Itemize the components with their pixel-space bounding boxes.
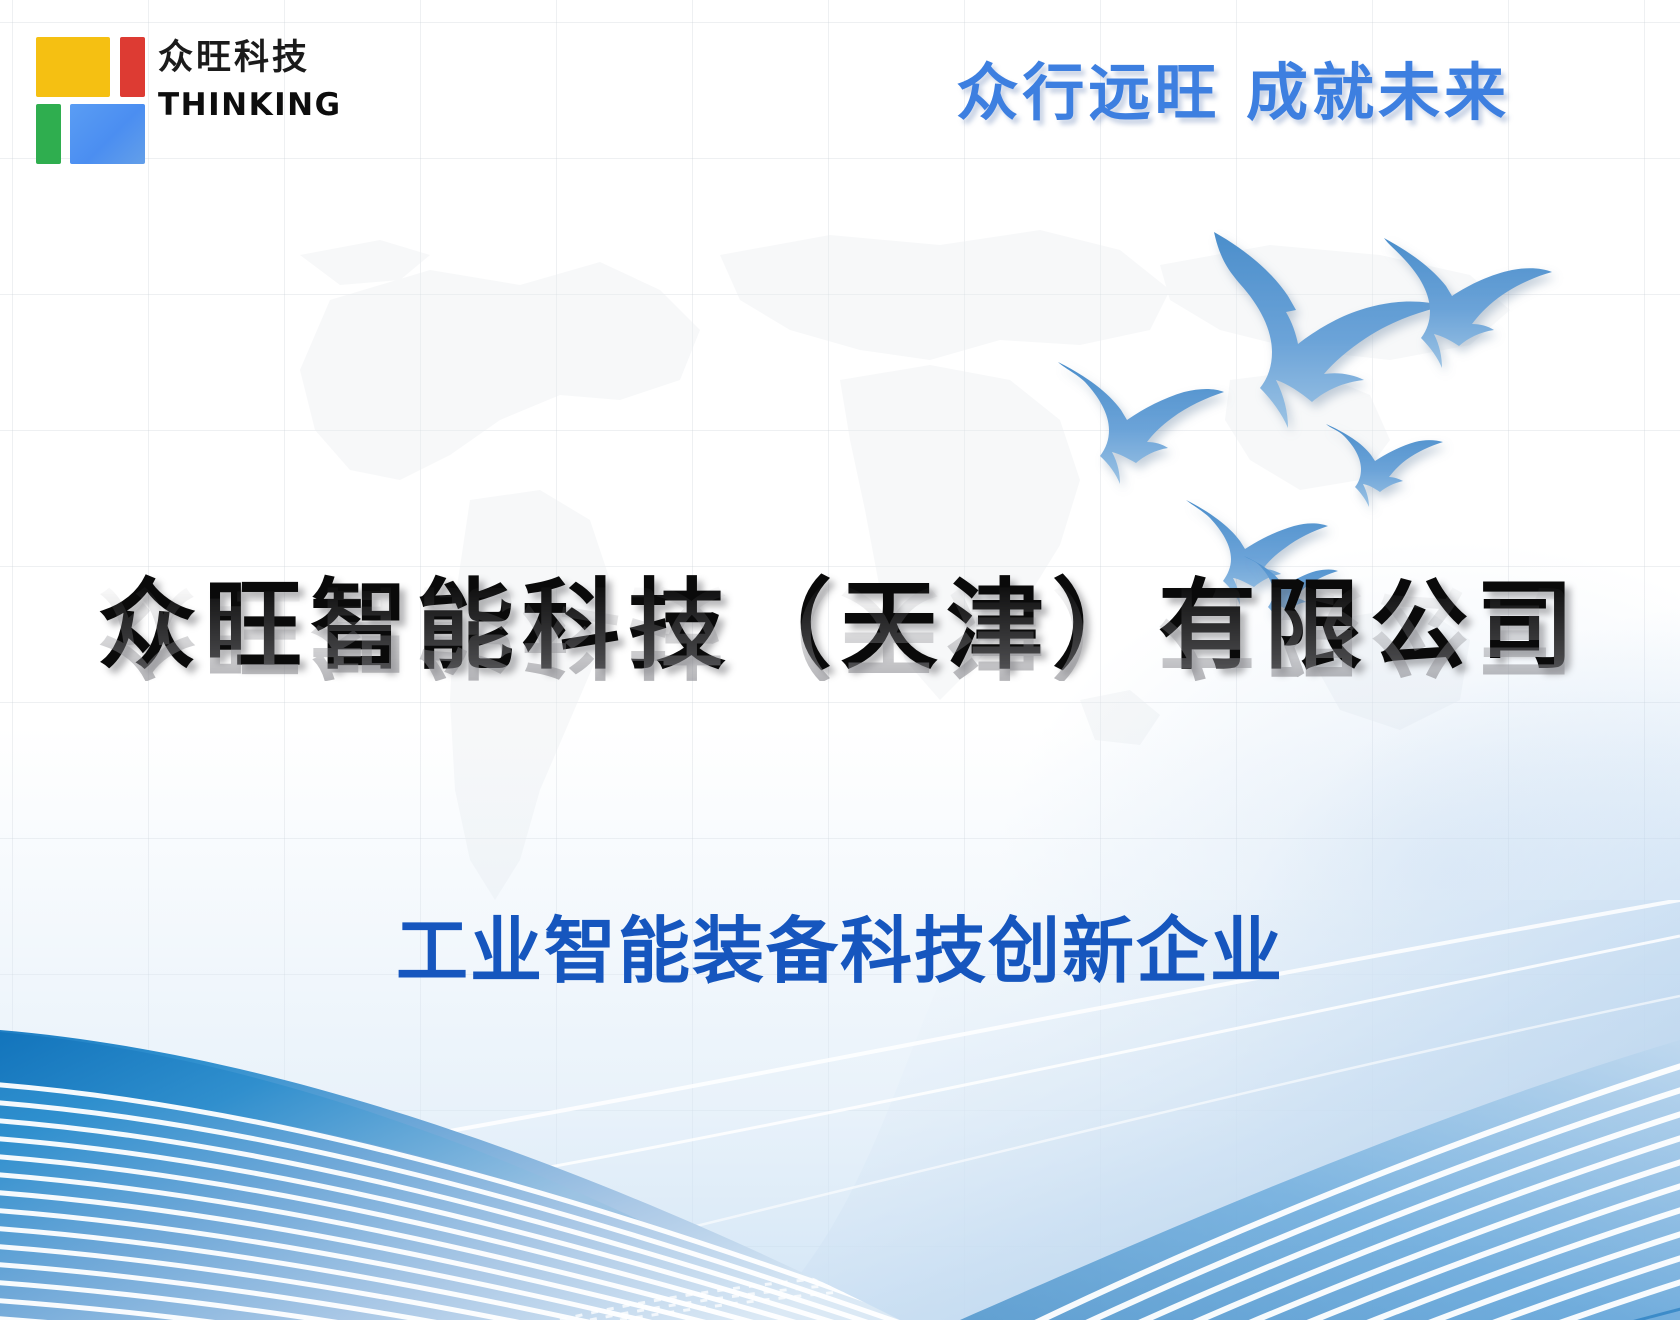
logo-square-red-icon: [120, 37, 145, 97]
seagull-icon: [1326, 424, 1443, 507]
seagull-icon: [1214, 232, 1444, 428]
logo-square-green-icon: [36, 104, 61, 164]
company-logo: 众旺科技 THINKING: [28, 33, 286, 155]
seagull-icon: [1384, 238, 1552, 368]
page-title-reflection: 众旺智能科技（天津）有限公司: [0, 577, 1680, 681]
page-subtitle: 工业智能装备科技创新企业: [396, 912, 1284, 991]
header-tagline: 众行远旺 成就未来: [956, 62, 1510, 124]
seagull-icon: [1058, 362, 1224, 484]
title-block: 众旺智能科技（天津）有限公司 众旺智能科技（天津）有限公司: [0, 575, 1680, 785]
logo-square-blue-icon: [70, 104, 145, 164]
presentation-slide: 众旺科技 THINKING 众行远旺 成就未来: [0, 0, 1680, 1320]
logo-square-yellow-icon: [36, 37, 110, 97]
logo-wordmark: 众旺科技 THINKING: [158, 41, 342, 121]
logo-mark-icon: [28, 33, 146, 155]
subtitle-block: 工业智能装备科技创新企业: [0, 912, 1680, 991]
logo-name-cn: 众旺科技: [158, 41, 342, 76]
logo-name-en: THINKING: [158, 90, 342, 121]
slide-header: 众旺科技 THINKING 众行远旺 成就未来: [0, 0, 1680, 190]
